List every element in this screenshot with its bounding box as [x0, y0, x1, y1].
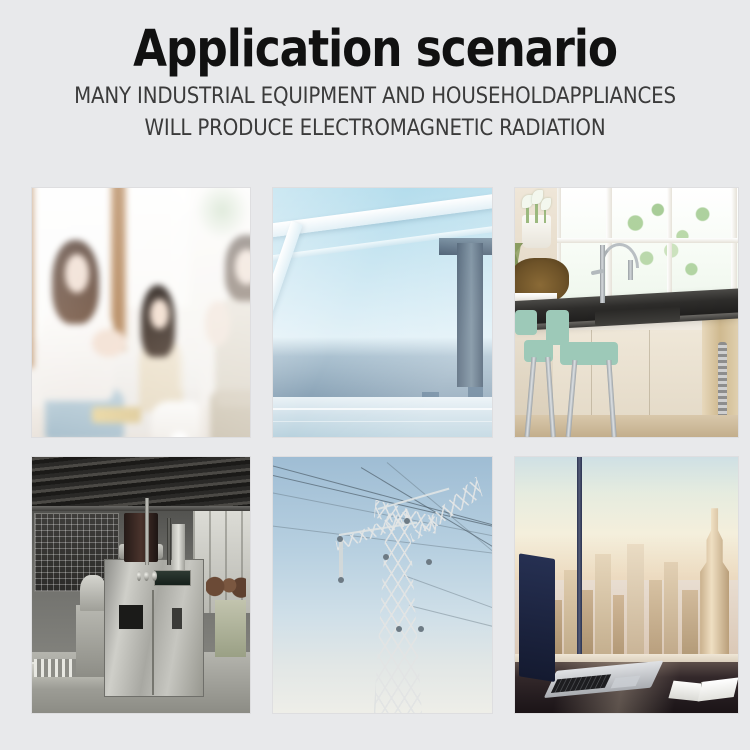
page-header: Application scenario MANY INDUSTRIAL EQU…: [0, 0, 750, 145]
scenario-image-modern-kitchen: [515, 188, 738, 437]
family-living-room-photo: [32, 188, 250, 437]
page-subtitle-line-2: WILL PRODUCE ELECTROMAGNETIC RADIATION: [45, 113, 705, 145]
scenario-image-factory-machinery: [32, 457, 250, 713]
highrise-glass-cityscape-photo: [273, 188, 492, 437]
scenario-image-family-living-room: [32, 188, 250, 437]
scenario-image-grid: [32, 188, 738, 713]
page-title: Application scenario: [53, 22, 698, 77]
scenario-image-highrise-glass-cityscape: [273, 188, 492, 437]
page-subtitle: MANY INDUSTRIAL EQUIPMENT AND HOUSEHOLDA…: [45, 81, 705, 145]
page-subtitle-line-1: MANY INDUSTRIAL EQUIPMENT AND HOUSEHOLDA…: [45, 81, 705, 113]
scenario-image-office-desk-skyline: [515, 457, 738, 713]
scenario-image-transmission-tower: [273, 457, 492, 713]
modern-kitchen-photo: [515, 188, 738, 437]
transmission-tower-photo: [273, 457, 492, 713]
application-scenario-page: Application scenario MANY INDUSTRIAL EQU…: [0, 0, 750, 750]
office-desk-skyline-photo: [515, 457, 738, 713]
factory-machinery-photo: [32, 457, 250, 713]
